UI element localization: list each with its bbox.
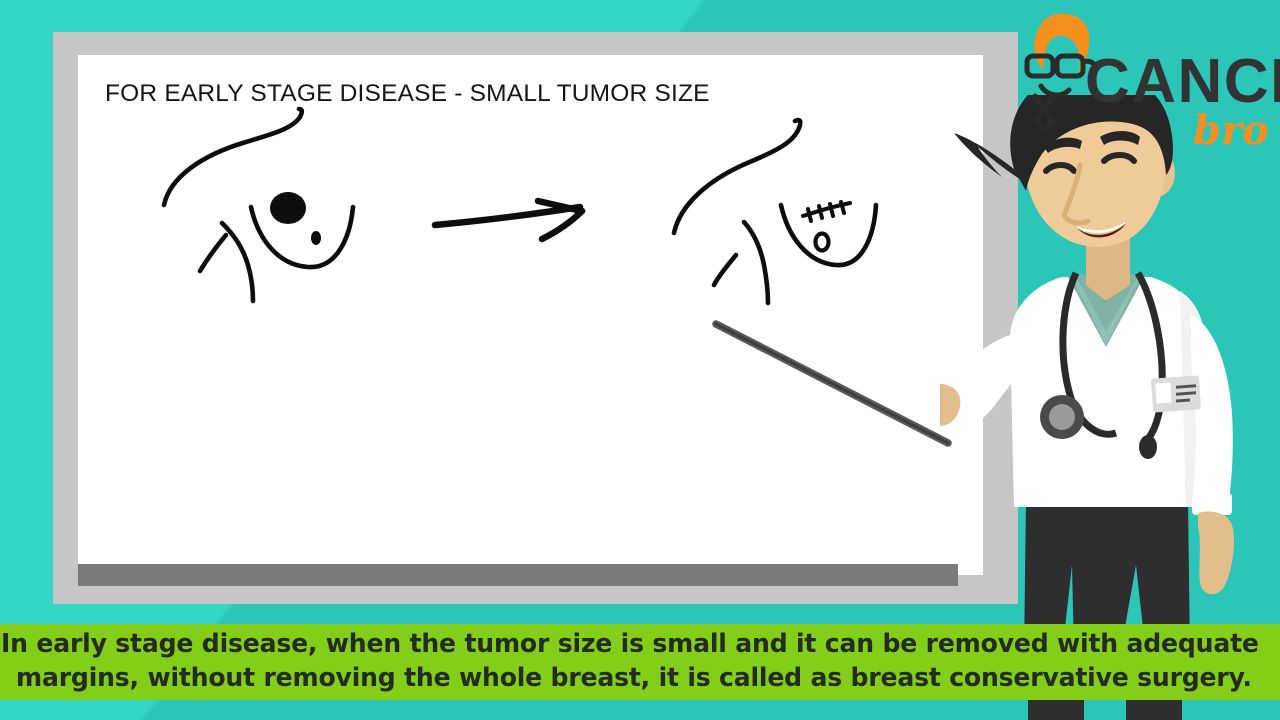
caption-bar: In early stage disease, when the tumor s… — [0, 624, 1280, 700]
logo-primary-text: CANCER — [1085, 47, 1280, 116]
suture-marks — [803, 202, 850, 221]
nipple-outline — [816, 234, 829, 251]
brand-logo: CANCER bro — [1005, 4, 1280, 169]
diagram-breast-after-surgery — [660, 105, 890, 315]
nipple-marker — [311, 231, 321, 245]
scene-root: FOR EARLY STAGE DISEASE - SMALL TUMOR SI… — [0, 0, 1280, 720]
caption-line-2: margins, without removing the whole brea… — [16, 660, 1252, 696]
id-badge — [1151, 375, 1201, 412]
tumor-marker — [270, 192, 306, 224]
whiteboard-title: FOR EARLY STAGE DISEASE - SMALL TUMOR SI… — [105, 80, 710, 108]
logo-secondary-text: bro — [1193, 107, 1269, 154]
whiteboard-tray — [78, 564, 958, 586]
diagram-breast-with-tumor — [150, 105, 380, 315]
caption-line-1: In early stage disease, when the tumor s… — [1, 626, 1259, 662]
arrow-right-icon — [430, 182, 605, 248]
hand-right — [1198, 512, 1234, 595]
